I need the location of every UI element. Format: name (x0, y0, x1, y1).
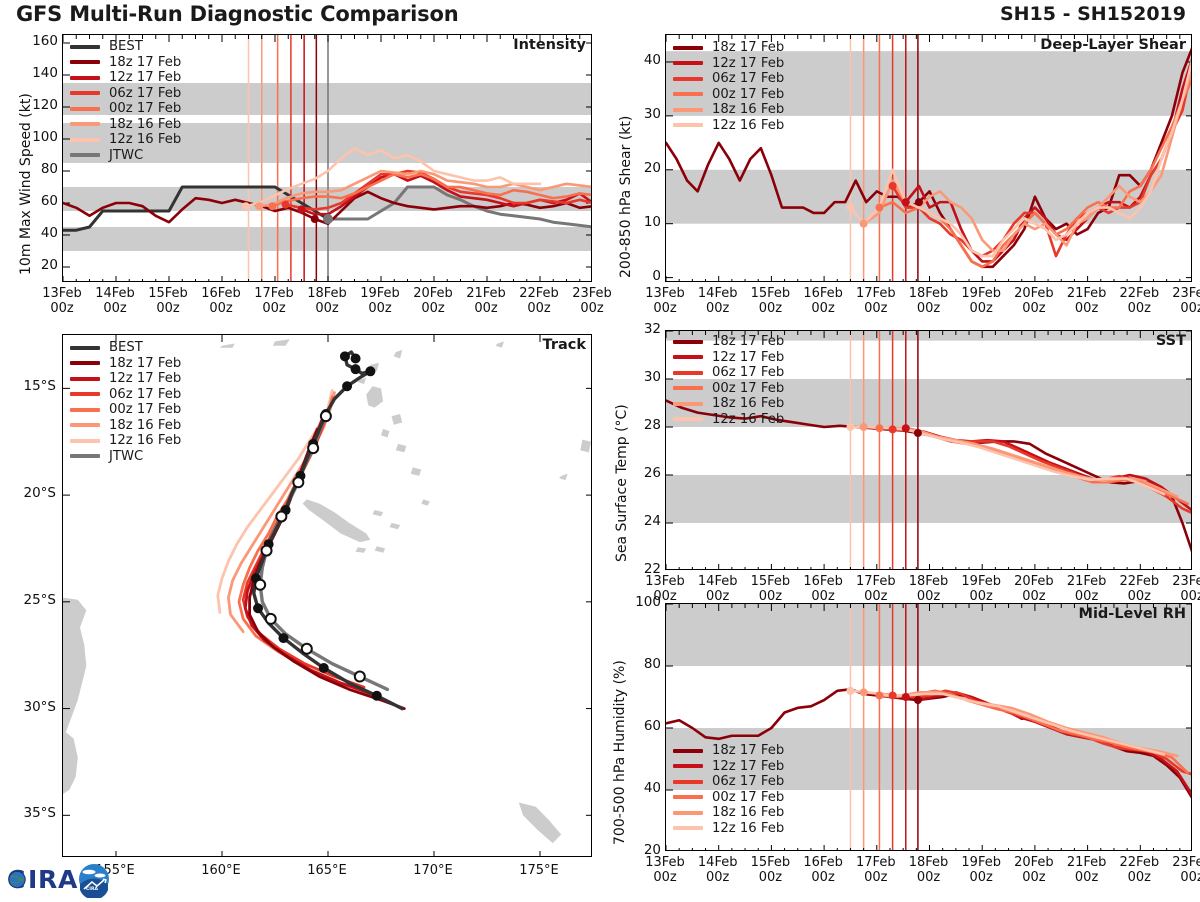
axis-tick-label: 25°S (8, 592, 56, 608)
axis-tick-label: 0 (615, 268, 661, 284)
axis-tick-label: 20 (615, 160, 661, 176)
legend-swatch-icon (673, 46, 703, 50)
axis-tick-label: 20Feb00z (403, 286, 463, 317)
legend-item: 06z 17 Feb (673, 774, 784, 790)
legend-rh: 18z 17 Feb12z 17 Feb06z 17 Feb00z 17 Feb… (673, 743, 784, 836)
panel-title-track: Track (543, 337, 586, 353)
legend-label: 00z 17 Feb (712, 790, 784, 805)
legend-label: 18z 17 Feb (712, 743, 784, 758)
legend-item: 06z 17 Feb (673, 71, 784, 87)
legend-label: 12z 16 Feb (712, 412, 784, 427)
axis-tick-label: 17Feb00z (846, 286, 906, 317)
legend-label: 06z 17 Feb (712, 774, 784, 789)
axis-tick-label: 15Feb00z (740, 574, 800, 605)
legend-item: 18z 17 Feb (70, 55, 181, 71)
axis-tick-label: 21Feb00z (1057, 574, 1117, 605)
axis-tick-label: 19Feb00z (951, 855, 1011, 886)
legend-item: 18z 17 Feb (673, 40, 784, 56)
legend-swatch-icon (673, 108, 703, 112)
axis-tick-label: 22Feb00z (1109, 574, 1169, 605)
legend-swatch-icon (70, 60, 100, 64)
legend-label: 00z 17 Feb (712, 381, 784, 396)
axis-tick-label: 160°E (186, 863, 256, 878)
axis-tick-label: 170°E (398, 863, 468, 878)
legend-item: 12z 17 Feb (673, 759, 784, 775)
legend-swatch-icon (70, 138, 100, 142)
legend-item: BEST (70, 340, 181, 356)
legend-swatch-icon (673, 780, 703, 784)
legend-item: 00z 17 Feb (673, 381, 784, 397)
axis-tick-label: 40 (615, 780, 661, 796)
legend-swatch-icon (70, 408, 100, 412)
axis-tick-label: 140 (12, 65, 58, 81)
legend-item: 12z 17 Feb (673, 56, 784, 72)
axis-tick-label: 14Feb00z (688, 855, 748, 886)
panel-title-sst: SST (1156, 333, 1186, 349)
legend-label: 18z 16 Feb (712, 396, 784, 411)
axis-tick-label: 40 (615, 52, 661, 68)
legend-swatch-icon (70, 392, 100, 396)
page-title: GFS Multi-Run Diagnostic Comparison (16, 2, 458, 26)
legend-swatch-icon (70, 346, 100, 350)
legend-swatch-icon (673, 417, 703, 421)
legend-item: 12z 17 Feb (673, 350, 784, 366)
axis-tick-label: 23Feb00z (1162, 574, 1200, 605)
axis-tick-label: 100 (615, 594, 661, 610)
axis-tick-label: 22Feb00z (1109, 286, 1169, 317)
legend-swatch-icon (70, 91, 100, 95)
legend-item: 00z 17 Feb (673, 87, 784, 103)
legend-swatch-icon (70, 423, 100, 427)
axis-tick-label: 100 (12, 129, 58, 145)
axis-tick-label: 17Feb00z (846, 855, 906, 886)
legend-item: JTWC (70, 148, 181, 164)
legend-item: 18z 17 Feb (673, 743, 784, 759)
legend-item: 12z 16 Feb (70, 433, 181, 449)
legend-intensity: BEST18z 17 Feb12z 17 Feb06z 17 Feb00z 17… (70, 39, 181, 163)
axis-tick-label: 80 (12, 161, 58, 177)
legend-item: 18z 16 Feb (673, 805, 784, 821)
legend-swatch-icon (673, 386, 703, 390)
legend-swatch-icon (673, 402, 703, 406)
svg-text:CIRA: CIRA (86, 886, 98, 892)
legend-item: 12z 17 Feb (70, 371, 181, 387)
legend-item: 00z 17 Feb (70, 101, 181, 117)
legend-label: 00z 17 Feb (109, 402, 181, 417)
axis-tick-label: 21Feb00z (456, 286, 516, 317)
legend-swatch-icon (673, 749, 703, 753)
axis-tick-label: 14Feb00z (688, 286, 748, 317)
legend-swatch-icon (70, 45, 100, 49)
legend-item: 12z 17 Feb (70, 70, 181, 86)
legend-swatch-icon (673, 123, 703, 127)
legend-item: 00z 17 Feb (70, 402, 181, 418)
legend-item: 00z 17 Feb (673, 790, 784, 806)
legend-item: 18z 16 Feb (673, 102, 784, 118)
legend-swatch-icon (673, 355, 703, 359)
axis-tick-label: 32 (615, 321, 661, 337)
legend-item: 18z 16 Feb (673, 396, 784, 412)
legend-swatch-icon (70, 377, 100, 381)
axis-tick-label: 10 (615, 214, 661, 230)
panel-title-rh: Mid-Level RH (1079, 606, 1186, 622)
legend-swatch-icon (70, 454, 100, 458)
legend-item: 06z 17 Feb (70, 86, 181, 102)
axis-tick-label: 22Feb00z (509, 286, 569, 317)
legend-label: JTWC (109, 449, 143, 464)
axis-tick-label: 165°E (292, 863, 362, 878)
legend-swatch-icon (673, 371, 703, 375)
y-axis-label-intensity: 10m Max Wind Speed (kt) (18, 93, 34, 275)
legend-label: 12z 17 Feb (712, 56, 784, 71)
panel-intensity[interactable]: Intensity BEST18z 17 Feb12z 17 Feb06z 17… (62, 34, 592, 282)
legend-swatch-icon (70, 361, 100, 365)
legend-label: 18z 17 Feb (712, 334, 784, 349)
legend-label: 06z 17 Feb (109, 387, 181, 402)
axis-tick-label: 23Feb00z (1162, 855, 1200, 886)
panel-mid-level-rh[interactable]: Mid-Level RH 18z 17 Feb12z 17 Feb06z 17 … (665, 603, 1192, 851)
axis-tick-label: 14Feb00z (85, 286, 145, 317)
axis-tick-label: 23Feb00z (1162, 286, 1200, 317)
legend-label: 18z 17 Feb (109, 356, 181, 371)
legend-item: 06z 17 Feb (673, 365, 784, 381)
legend-label: 18z 16 Feb (109, 117, 181, 132)
legend-label: 12z 16 Feb (109, 132, 181, 147)
axis-tick-label: 35°S (8, 805, 56, 821)
svg-text:R: R (38, 865, 57, 894)
axis-tick-label: 15°S (8, 378, 56, 394)
legend-item: 18z 16 Feb (70, 117, 181, 133)
axis-tick-label: 40 (12, 225, 58, 241)
legend-item: 12z 16 Feb (673, 118, 784, 134)
legend-label: 18z 16 Feb (109, 418, 181, 433)
legend-label: 00z 17 Feb (712, 87, 784, 102)
axis-tick-label: 18Feb00z (297, 286, 357, 317)
axis-tick-label: 15Feb00z (740, 286, 800, 317)
legend-item: 18z 16 Feb (70, 418, 181, 434)
axis-tick-label: 30 (615, 369, 661, 385)
axis-tick-label: 80 (615, 656, 661, 672)
panel-sst[interactable]: SST 18z 17 Feb12z 17 Feb06z 17 Feb00z 17… (665, 330, 1192, 570)
axis-tick-label: 23Feb00z (562, 286, 622, 317)
axis-tick-label: 60 (615, 718, 661, 734)
axis-tick-label: 20Feb00z (1004, 286, 1064, 317)
axis-tick-label: 13Feb00z (635, 855, 695, 886)
panel-title-shear: Deep-Layer Shear (1040, 37, 1186, 53)
legend-label: 12z 17 Feb (109, 70, 181, 85)
legend-label: 00z 17 Feb (109, 101, 181, 116)
legend-label: 12z 16 Feb (109, 433, 181, 448)
axis-tick-label: 13Feb00z (635, 286, 695, 317)
legend-swatch-icon (70, 439, 100, 443)
axis-tick-label: 17Feb00z (244, 286, 304, 317)
axis-tick-label: 20 (12, 257, 58, 273)
axis-tick-label: 20Feb00z (1004, 855, 1064, 886)
legend-label: 12z 17 Feb (109, 371, 181, 386)
axis-tick-label: 14Feb00z (688, 574, 748, 605)
legend-swatch-icon (70, 76, 100, 80)
legend-label: 18z 17 Feb (712, 40, 784, 55)
axis-tick-label: 16Feb00z (793, 574, 853, 605)
axis-tick-label: 60 (12, 193, 58, 209)
legend-label: 18z 17 Feb (109, 55, 181, 70)
axis-tick-label: 16Feb00z (793, 855, 853, 886)
legend-label: BEST (109, 39, 143, 54)
y-axis-label-shear: 200-850 hPa Shear (kt) (618, 116, 634, 278)
panel-title-intensity: Intensity (513, 37, 586, 53)
legend-swatch-icon (70, 122, 100, 126)
axis-tick-label: 16Feb00z (191, 286, 251, 317)
legend-item: 06z 17 Feb (70, 387, 181, 403)
legend-shear: 18z 17 Feb12z 17 Feb06z 17 Feb00z 17 Feb… (673, 40, 784, 133)
axis-tick-label: 22Feb00z (1109, 855, 1169, 886)
axis-tick-label: 21Feb00z (1057, 855, 1117, 886)
legend-label: 12z 17 Feb (712, 350, 784, 365)
legend-label: 06z 17 Feb (712, 365, 784, 380)
legend-label: 12z 17 Feb (712, 759, 784, 774)
legend-label: 18z 16 Feb (712, 102, 784, 117)
diagnostic-dashboard: GFS Multi-Run Diagnostic Comparison SH15… (0, 0, 1200, 900)
legend-sst: 18z 17 Feb12z 17 Feb06z 17 Feb00z 17 Feb… (673, 334, 784, 427)
legend-swatch-icon (673, 61, 703, 65)
legend-item: 12z 16 Feb (673, 821, 784, 837)
axis-tick-label: 18Feb00z (899, 574, 959, 605)
axis-tick-label: 21Feb00z (1057, 286, 1117, 317)
legend-swatch-icon (673, 764, 703, 768)
legend-label: BEST (109, 340, 143, 355)
legend-swatch-icon (70, 153, 100, 157)
axis-tick-label: 19Feb00z (951, 286, 1011, 317)
legend-swatch-icon (673, 340, 703, 344)
axis-tick-label: 24 (615, 513, 661, 529)
storm-id-title: SH15 - SH152019 (1000, 3, 1186, 25)
legend-label: 06z 17 Feb (109, 86, 181, 101)
legend-track: BEST18z 17 Feb12z 17 Feb06z 17 Feb00z 17… (70, 340, 181, 464)
panel-deep-layer-shear[interactable]: Deep-Layer Shear 18z 17 Feb12z 17 Feb06z… (665, 34, 1192, 282)
axis-tick-label: 28 (615, 417, 661, 433)
legend-label: JTWC (109, 148, 143, 163)
axis-tick-label: 30 (615, 106, 661, 122)
legend-label: 12z 16 Feb (712, 118, 784, 133)
legend-swatch-icon (673, 77, 703, 81)
axis-tick-label: 20Feb00z (1004, 574, 1064, 605)
axis-tick-label: 19Feb00z (951, 574, 1011, 605)
axis-tick-label: 15Feb00z (138, 286, 198, 317)
legend-item: 12z 16 Feb (673, 412, 784, 428)
axis-tick-label: 175°E (504, 863, 574, 878)
legend-label: 12z 16 Feb (712, 821, 784, 836)
legend-item: 18z 17 Feb (70, 356, 181, 372)
cira-logo: C I R A CIRA (6, 862, 110, 898)
axis-tick-label: 30°S (8, 699, 56, 715)
legend-swatch-icon (673, 826, 703, 830)
legend-swatch-icon (673, 795, 703, 799)
axis-tick-label: 16Feb00z (793, 286, 853, 317)
axis-tick-label: 19Feb00z (350, 286, 410, 317)
y-axis-label-rh: 700-500 hPa Humidity (%) (612, 660, 628, 845)
legend-label: 18z 16 Feb (712, 805, 784, 820)
legend-swatch-icon (70, 107, 100, 111)
axis-tick-label: 18Feb00z (899, 286, 959, 317)
axis-tick-label: 17Feb00z (846, 574, 906, 605)
axis-tick-label: 15Feb00z (740, 855, 800, 886)
svg-text:I: I (28, 865, 37, 894)
axis-tick-label: 13Feb00z (32, 286, 92, 317)
legend-item: BEST (70, 39, 181, 55)
legend-label: 06z 17 Feb (712, 71, 784, 86)
axis-tick-label: 18Feb00z (899, 855, 959, 886)
legend-item: JTWC (70, 449, 181, 465)
legend-swatch-icon (673, 92, 703, 96)
legend-swatch-icon (673, 811, 703, 815)
axis-tick-label: 20°S (8, 485, 56, 501)
axis-tick-label: 26 (615, 465, 661, 481)
legend-item: 18z 17 Feb (673, 334, 784, 350)
axis-tick-label: 160 (12, 33, 58, 49)
axis-tick-label: 120 (12, 97, 58, 113)
panel-track-map[interactable]: Track BEST18z 17 Feb12z 17 Feb06z 17 Feb… (62, 334, 592, 857)
legend-item: 12z 16 Feb (70, 132, 181, 148)
